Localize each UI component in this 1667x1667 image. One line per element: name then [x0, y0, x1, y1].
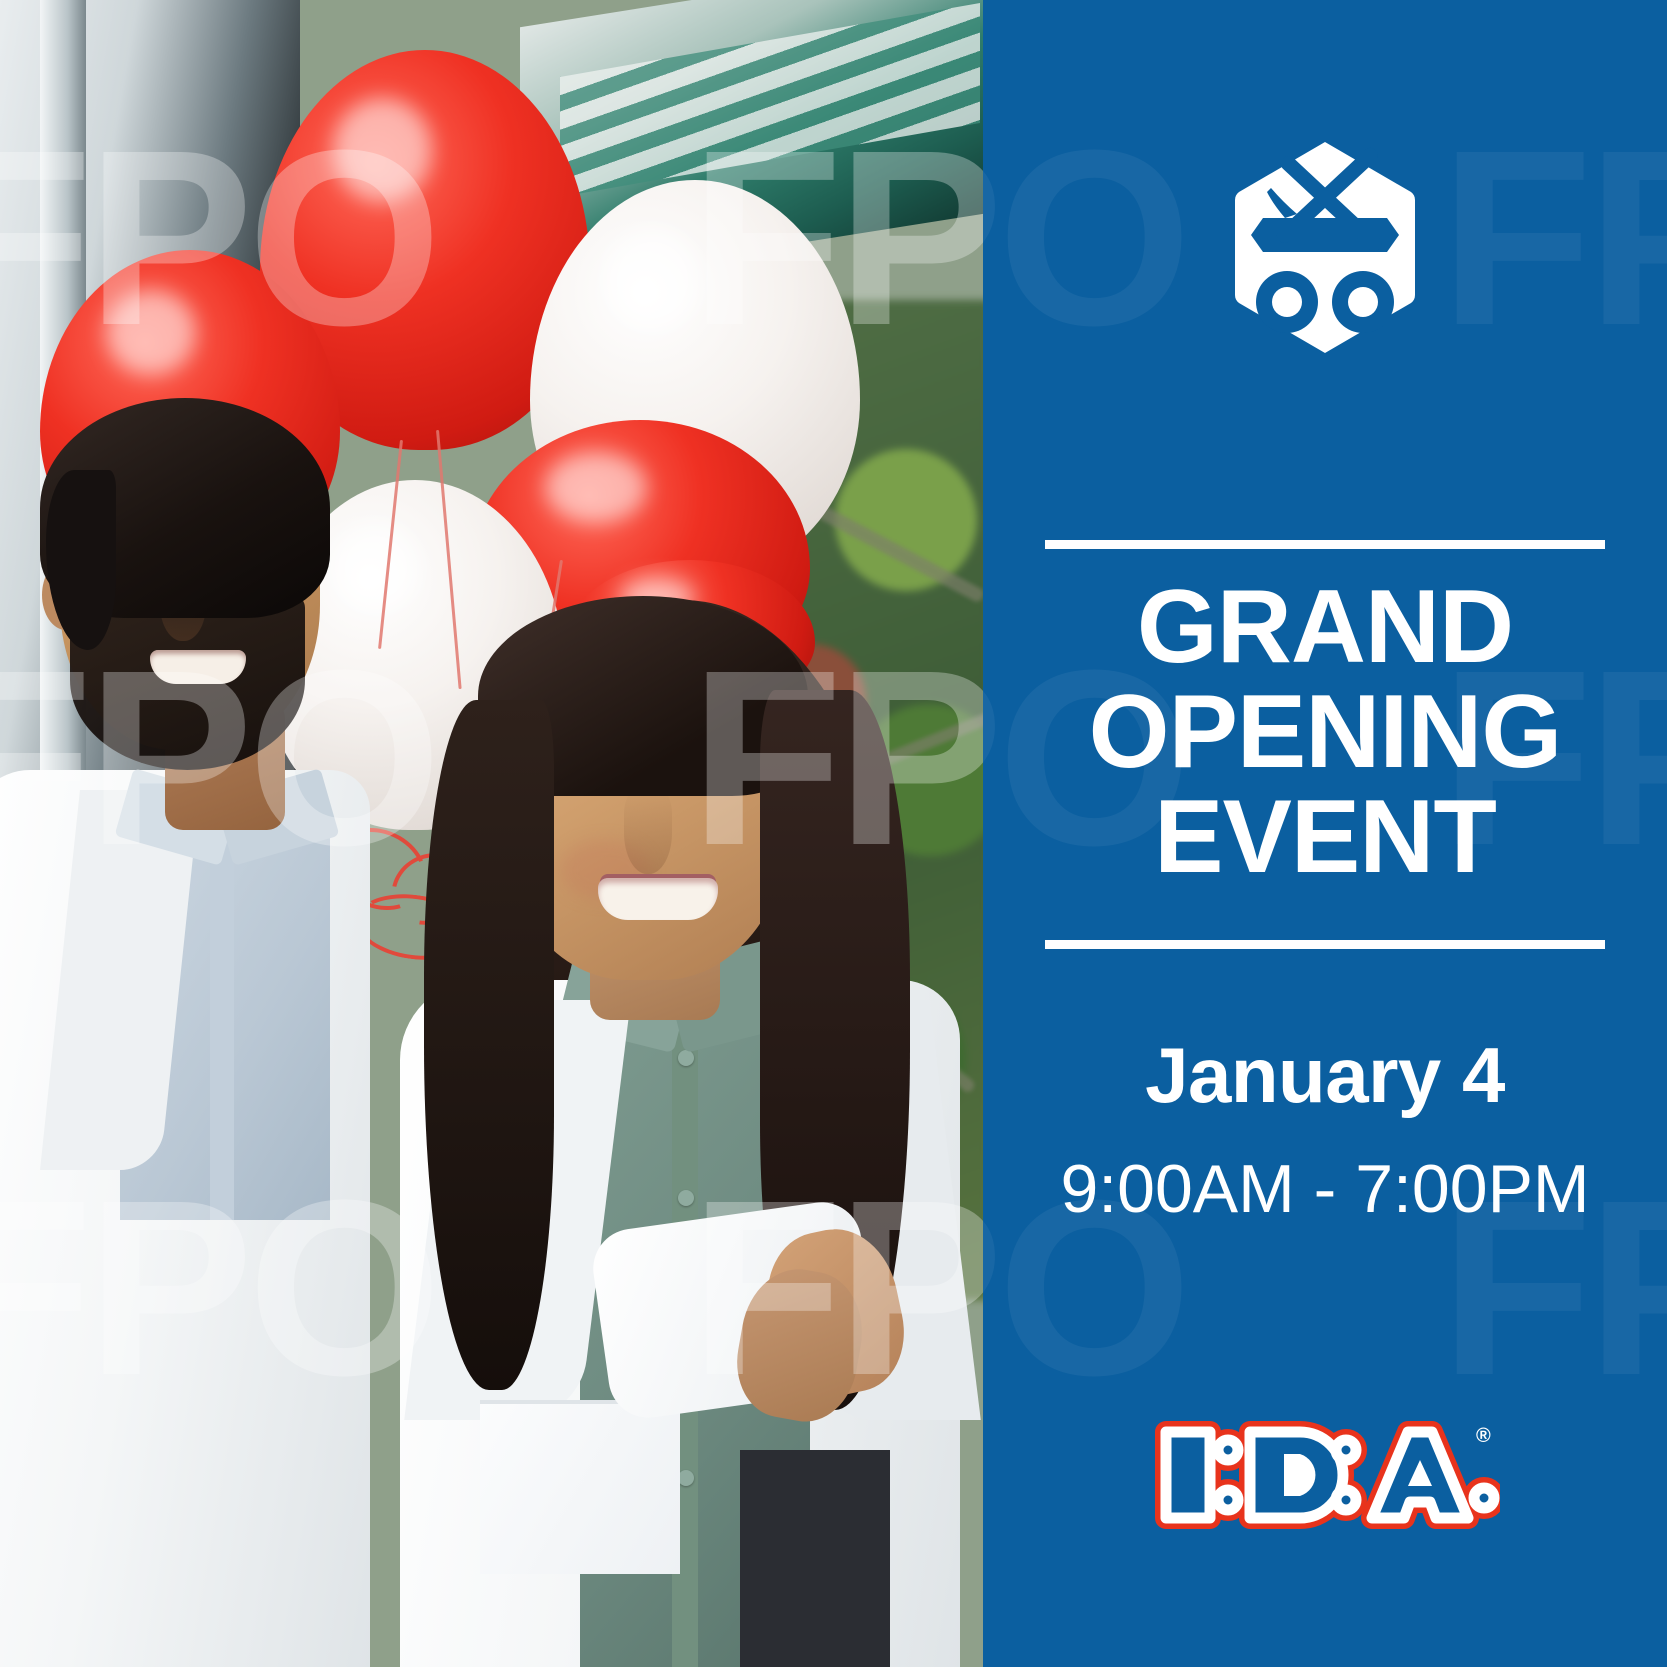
- info-panel: FPO FPO FPO FPO FPO FPO: [983, 0, 1667, 1667]
- divider-top: [1045, 540, 1605, 549]
- ida-logo: ®: [1150, 1410, 1500, 1540]
- headline-line-2: OPENING: [983, 680, 1667, 785]
- event-date: January 4: [983, 1030, 1667, 1121]
- smile: [598, 878, 718, 920]
- shirt-placket: [210, 820, 234, 1220]
- coat-pocket: [480, 1400, 680, 1574]
- hair-left: [424, 700, 554, 1390]
- blouse-button: [678, 1190, 694, 1206]
- ribbon-cutting-scissors-hexagon-icon: [1235, 140, 1415, 355]
- grand-opening-photo: FPO FPO FPO FPO FPO FPO: [0, 0, 983, 1667]
- headline-line-3: EVENT: [983, 785, 1667, 890]
- nose: [624, 788, 672, 874]
- smile: [150, 650, 246, 684]
- event-time: 9:00AM - 7:00PM: [983, 1150, 1667, 1228]
- fpo-watermark-text: FPO: [1440, 140, 1667, 335]
- photo-scene: [0, 0, 983, 1667]
- blouse-button: [678, 1470, 694, 1486]
- trousers: [740, 1450, 890, 1667]
- svg-text:®: ®: [1476, 1425, 1491, 1447]
- divider-bottom: [1045, 940, 1605, 949]
- headline-line-1: GRAND: [983, 575, 1667, 680]
- fpo-watermark-text: FPO: [983, 140, 1186, 335]
- page-title: GRAND OPENING EVENT: [983, 575, 1667, 890]
- blouse-button: [678, 1050, 694, 1066]
- poster-canvas: FPO FPO FPO FPO FPO FPO FPO FPO FPO FPO …: [0, 0, 1667, 1667]
